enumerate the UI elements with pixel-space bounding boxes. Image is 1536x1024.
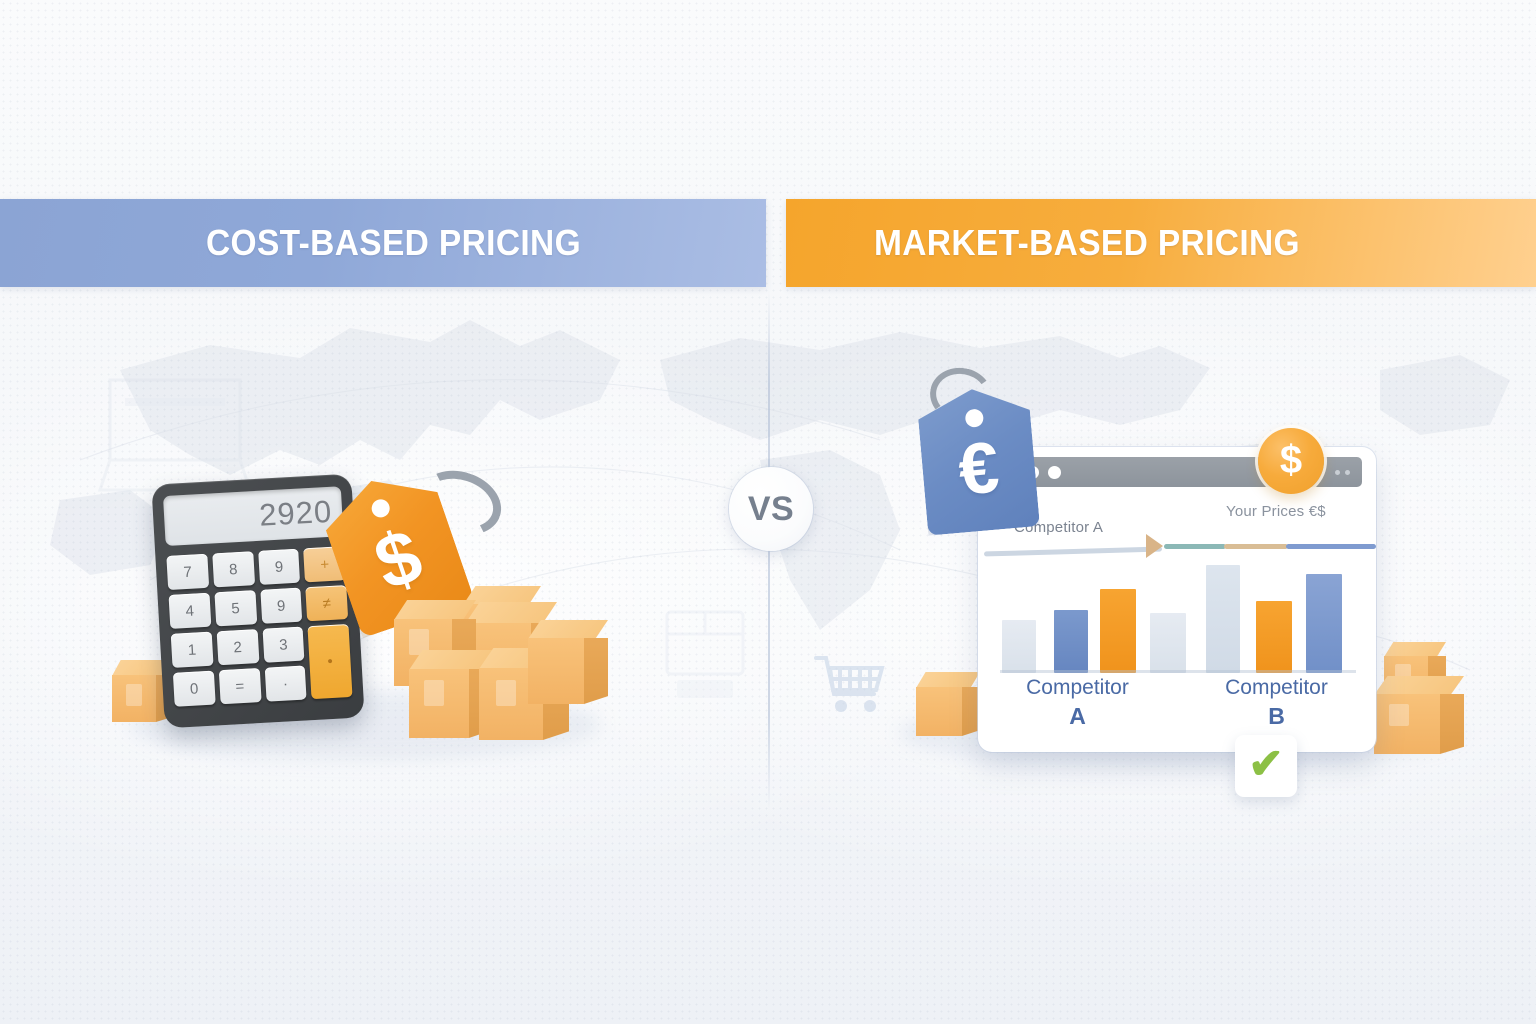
chart-baseline xyxy=(1000,670,1356,673)
chart-bar-3 xyxy=(1100,589,1136,673)
calc-key-1[interactable]: 1 xyxy=(171,632,214,668)
trend-arrow-icon xyxy=(1146,534,1163,558)
dollar-coin-icon: $ xyxy=(1258,428,1324,494)
calc-key-8[interactable]: 8 xyxy=(212,551,255,587)
chart-annotation-your-prices: Your Prices €$ xyxy=(1226,503,1326,520)
calc-key-5[interactable]: 5 xyxy=(214,590,257,626)
trend-line-right xyxy=(1224,544,1288,549)
chart-label-competitor-b: Competitor B xyxy=(1177,675,1376,731)
competitor-b-letter: B xyxy=(1177,702,1376,731)
check-icon: ✔ xyxy=(1248,743,1283,785)
calculator-display: 2920 xyxy=(163,486,344,546)
calc-key-4[interactable]: 4 xyxy=(169,593,212,629)
vs-badge: VS xyxy=(729,467,813,551)
chart-bar-7 xyxy=(1306,574,1342,673)
chart-bar-6 xyxy=(1256,601,1292,673)
shopping-cart-icon xyxy=(812,650,888,716)
calc-key-divide[interactable]: • xyxy=(308,624,353,699)
box-right-low xyxy=(520,620,616,704)
banner-cost-based: COST-BASED PRICING xyxy=(0,199,766,287)
calc-key-dot[interactable]: · xyxy=(264,665,307,701)
banner-market-based: MARKET-BASED PRICING xyxy=(786,199,1536,287)
chart-bar-1 xyxy=(1002,620,1036,673)
banner-left-title: COST-BASED PRICING xyxy=(206,222,581,264)
calculator[interactable]: 2920 7 8 9 + 4 5 9 ≠ 1 2 3 • 0 = · xyxy=(151,474,364,729)
price-tag-hole xyxy=(369,497,392,520)
infographic-canvas: COST-BASED PRICING MARKET-BASED PRICING … xyxy=(0,0,1536,1024)
box-far-right-bottom xyxy=(1365,676,1473,754)
calc-key-2[interactable]: 2 xyxy=(216,629,259,665)
calc-key-9b[interactable]: 9 xyxy=(260,588,303,624)
competitor-a-name: Competitor xyxy=(1026,676,1129,699)
calc-key-3[interactable]: 3 xyxy=(262,627,305,663)
trend-line-mid xyxy=(1164,544,1226,549)
trend-line-end xyxy=(1286,544,1376,549)
chart-label-competitor-a: Competitor A xyxy=(978,675,1177,731)
price-tag-euro-hole xyxy=(965,408,985,428)
browser-mini-dot-2-icon xyxy=(1345,470,1350,475)
calculator-keypad[interactable]: 7 8 9 + 4 5 9 ≠ 1 2 3 • 0 = · xyxy=(166,546,352,707)
check-badge: ✔ xyxy=(1235,735,1297,797)
calc-key-0[interactable]: 0 xyxy=(173,671,216,707)
competitor-a-letter: A xyxy=(978,702,1177,731)
browser-mini-dot-1-icon xyxy=(1335,470,1340,475)
box-right-small xyxy=(908,672,986,736)
competitor-price-browser-window[interactable]: Competitor A Your Prices €$ Competitor A xyxy=(978,447,1376,752)
calc-key-7[interactable]: 7 xyxy=(166,554,209,590)
banner-right-title: MARKET-BASED PRICING xyxy=(874,222,1300,264)
coin-dollar-symbol: $ xyxy=(1280,440,1302,480)
calculator-display-value: 2920 xyxy=(258,494,333,534)
chart-bar-2 xyxy=(1054,610,1088,673)
chart-bar-4 xyxy=(1150,613,1186,673)
chart-category-labels: Competitor A Competitor B xyxy=(978,675,1376,731)
calc-key-notequal[interactable]: ≠ xyxy=(306,585,349,621)
calc-key-equals[interactable]: = xyxy=(219,668,262,704)
trend-line-left xyxy=(984,547,1162,557)
euro-sign-icon: € xyxy=(956,431,1002,506)
browser-menu-dots[interactable] xyxy=(1330,470,1350,475)
browser-dot-3-icon[interactable] xyxy=(1048,466,1061,479)
calc-key-9[interactable]: 9 xyxy=(258,549,301,585)
competitor-b-name: Competitor xyxy=(1225,676,1328,699)
chart-bar-5 xyxy=(1206,565,1240,673)
dollar-sign-icon: $ xyxy=(366,518,431,604)
vs-label: VS xyxy=(748,490,794,529)
ghost-product-center xyxy=(655,600,755,710)
